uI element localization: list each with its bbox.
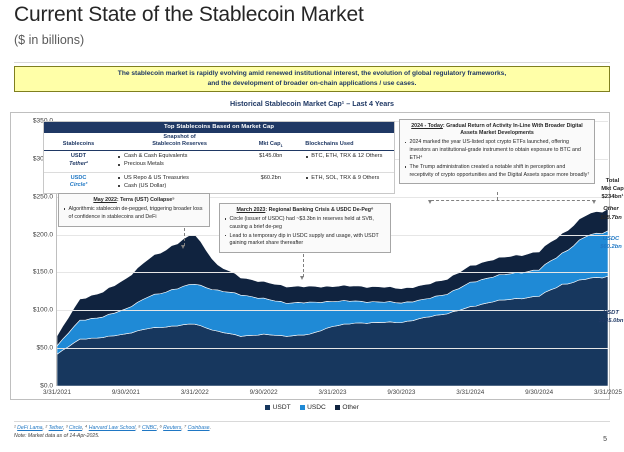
- y-axis-tick: $250.0: [33, 193, 53, 200]
- footer-divider: [14, 421, 610, 422]
- header-divider: [14, 62, 610, 63]
- usdt-label: USDT: [598, 310, 624, 318]
- blockchain-item: ETH, SOL, TRX & 9 Others: [305, 175, 394, 183]
- leader-bracket-recent: [431, 200, 595, 201]
- footnote-note: Note: Market data as of 14-Apr-2025.: [14, 432, 211, 440]
- footnote-link[interactable]: Circle: [69, 425, 82, 431]
- col-header-blockchains: Blockchains Used: [300, 134, 394, 148]
- coin-symbol: USDC: [44, 175, 113, 182]
- legend-label: USDT: [273, 404, 291, 411]
- total-mktcap-value: $234bn¹: [601, 194, 624, 202]
- blockchain-item: BTC, ETH, TRX & 12 Others: [305, 153, 394, 161]
- top-stablecoins-table: Top Stablecoins Based on Market Cap Stab…: [43, 121, 395, 194]
- y-axis-tick: $100.0: [33, 307, 53, 314]
- footnote-link[interactable]: DeFi Lama: [17, 425, 42, 431]
- x-axis-tick: 9/30/2022: [250, 389, 278, 396]
- banner-line-2: and the development of broader on-chain …: [208, 80, 417, 87]
- x-axis-tick: 3/31/2024: [456, 389, 484, 396]
- callout-svb-depeg: March 2023: Regional Banking Crisis & US…: [219, 203, 391, 253]
- callout-svb-heading-rest: : Regional Banking Crisis & USDC De-Peg⁶: [265, 207, 373, 213]
- row-mktcap-cell: $60.2bn: [241, 175, 300, 191]
- footnote-link[interactable]: Tether: [49, 425, 63, 431]
- callout-recent-developments: 2024 - Today: Gradual Return of Activity…: [399, 119, 595, 184]
- usdc-value: $60.2bn: [598, 244, 624, 252]
- callout-svb-heading-bold: March 2023: [237, 207, 266, 213]
- legend-swatch-icon: [335, 405, 340, 410]
- page-number: 5: [603, 436, 607, 443]
- footnote-link[interactable]: CNBC: [142, 425, 157, 431]
- col-header-reserves-l2: Stablecoin Reserves: [152, 141, 207, 148]
- y-axis-tick: $200.0: [33, 231, 53, 238]
- row-blockchains-cell: ETH, SOL, TRX & 9 Others: [300, 175, 394, 191]
- leader-line-svb: [303, 254, 304, 277]
- legend-label: Other: [342, 404, 359, 411]
- row-coin-cell: USDC Circle³: [44, 175, 113, 191]
- x-axis-tick: 3/31/2021: [43, 389, 71, 396]
- x-axis-tick: 3/31/2022: [181, 389, 209, 396]
- coin-issuer: Circle³: [44, 182, 113, 189]
- footnote-sources: ¹ DeFi Lama, ² Tether, ³ Circle, ⁴ Harva…: [14, 424, 211, 432]
- key-message-banner: The stablecoin market is rapidly evolvin…: [14, 66, 610, 92]
- usdc-label: USDC: [598, 236, 624, 244]
- slide-root: Current State of the Stablecoin Market (…: [0, 0, 624, 452]
- legend-item-usdt[interactable]: USDT: [265, 404, 290, 411]
- leader-arrow-svb: [300, 276, 304, 280]
- leader-arrow-recent-left: [428, 200, 432, 204]
- callout-terra-heading: May 2022: Terra (UST) Collapse⁵: [63, 197, 205, 204]
- row-reserves-cell: US Repo & US Treasuries Cash (US Dollar): [113, 175, 241, 191]
- banner-line-1: The stablecoin market is rapidly evolvin…: [118, 70, 506, 77]
- row-coin-cell: USDT Tether²: [44, 153, 113, 169]
- callout-terra-collapse: May 2022: Terra (UST) Collapse⁵ Algorith…: [58, 193, 210, 227]
- other-label: Other: [598, 206, 624, 214]
- col-header-reserves: Snapshot of Stablecoin Reserves: [113, 134, 241, 148]
- x-axis-tick: 3/31/2025: [594, 389, 622, 396]
- page-subtitle: ($ in billions): [14, 33, 84, 47]
- usdt-value: $145.0bn: [598, 318, 624, 326]
- callout-recent-bullet: The Trump administration created a notab…: [404, 164, 590, 180]
- reserve-item: Cash (US Dollar): [118, 183, 241, 191]
- col-header-stablecoins: Stablecoins: [44, 134, 113, 148]
- callout-terra-heading-bold: May 2022: [93, 197, 117, 203]
- total-mktcap-label-l2: Mkt Cap: [601, 186, 624, 194]
- x-axis-tick: 9/30/2024: [525, 389, 553, 396]
- coin-symbol: USDT: [44, 153, 113, 160]
- row-blockchains-cell: BTC, ETH, TRX & 12 Others: [300, 153, 394, 169]
- table-row: USDC Circle³ US Repo & US Treasuries Cas…: [44, 173, 394, 193]
- row-mktcap-cell: $145.0bn: [241, 153, 300, 169]
- banner-text: The stablecoin market is rapidly evolvin…: [100, 69, 524, 89]
- table-column-headers: Stablecoins Snapshot of Stablecoin Reser…: [44, 133, 394, 151]
- row-reserves-cell: Cash & Cash Equivalents Precious Metals: [113, 153, 241, 169]
- leader-arrow-terra: [181, 245, 185, 249]
- coin-issuer: Tether²: [44, 161, 113, 168]
- leader-arrow-recent-right: [592, 200, 596, 204]
- reserve-item: Cash & Cash Equivalents: [118, 153, 241, 161]
- y-axis-tick: $150.0: [33, 269, 53, 276]
- y-axis-tick: $50.0: [36, 345, 53, 352]
- table-row: USDT Tether² Cash & Cash Equivalents Pre…: [44, 151, 394, 172]
- reserve-item: US Repo & US Treasuries: [118, 175, 241, 183]
- table-title: Top Stablecoins Based on Market Cap: [44, 122, 394, 133]
- footnote-link[interactable]: Reuters: [163, 425, 181, 431]
- right-total-label-group: Total Mkt Cap $234bn¹: [601, 178, 624, 201]
- legend-swatch-icon: [300, 405, 305, 410]
- other-value: $28.7bn: [598, 215, 624, 223]
- col-header-reserves-l1: Snapshot of: [163, 134, 195, 141]
- footnote-link[interactable]: Harvard Law School: [89, 425, 136, 431]
- chart-legend: USDTUSDCOther: [0, 404, 624, 411]
- callout-recent-bullet: 2024 marked the year US-listed spot cryp…: [404, 139, 590, 162]
- callout-svb-bullet: Circle (issuer of USDC) had ~$3.3bn in r…: [224, 216, 386, 232]
- right-other-label-group: Other $28.7bn: [598, 205, 624, 223]
- gridline: [57, 348, 608, 349]
- chart-title: Historical Stablecoin Market Cap¹ – Last…: [0, 99, 624, 108]
- callout-svb-bullet: Lead to a temporary dip in USDC supply a…: [224, 233, 386, 249]
- footnote-link[interactable]: Coinbase: [188, 425, 210, 431]
- reserve-item: Precious Metals: [118, 161, 241, 169]
- x-axis-tick: 9/30/2023: [387, 389, 415, 396]
- legend-item-usdc[interactable]: USDC: [300, 404, 326, 411]
- callout-terra-heading-rest: : Terra (UST) Collapse⁵: [117, 197, 175, 203]
- callout-recent-heading: 2024 - Today: Gradual Return of Activity…: [404, 123, 590, 138]
- callout-terra-bullet: Algorithmic stablecoin de-pegged, trigge…: [63, 206, 205, 222]
- x-axis-tick: 3/31/2023: [318, 389, 346, 396]
- page-title: Current State of the Stablecoin Market: [14, 3, 364, 27]
- leader-line-recent: [497, 192, 498, 200]
- callout-recent-heading-bold: 2024 - Today: [411, 123, 443, 129]
- legend-item-other[interactable]: Other: [335, 404, 359, 411]
- legend-swatch-icon: [265, 405, 270, 410]
- gridline: [57, 272, 608, 273]
- leader-line-terra: [184, 228, 185, 246]
- x-axis-tick: 9/30/2021: [112, 389, 140, 396]
- col-header-mktcap: Mkt Cap1: [241, 134, 300, 148]
- total-mktcap-label-l1: Total: [601, 178, 624, 186]
- right-usdt-label-group: USDT $145.0bn: [598, 310, 624, 326]
- legend-label: USDC: [307, 404, 326, 411]
- right-usdc-label-group: USDC $60.2bn: [598, 236, 624, 252]
- gridline: [57, 310, 608, 311]
- footnotes: ¹ DeFi Lama, ² Tether, ³ Circle, ⁴ Harva…: [14, 424, 211, 441]
- callout-svb-heading: March 2023: Regional Banking Crisis & US…: [224, 207, 386, 214]
- callout-recent-heading-rest: : Gradual Return of Activity In-Line Wit…: [443, 123, 583, 136]
